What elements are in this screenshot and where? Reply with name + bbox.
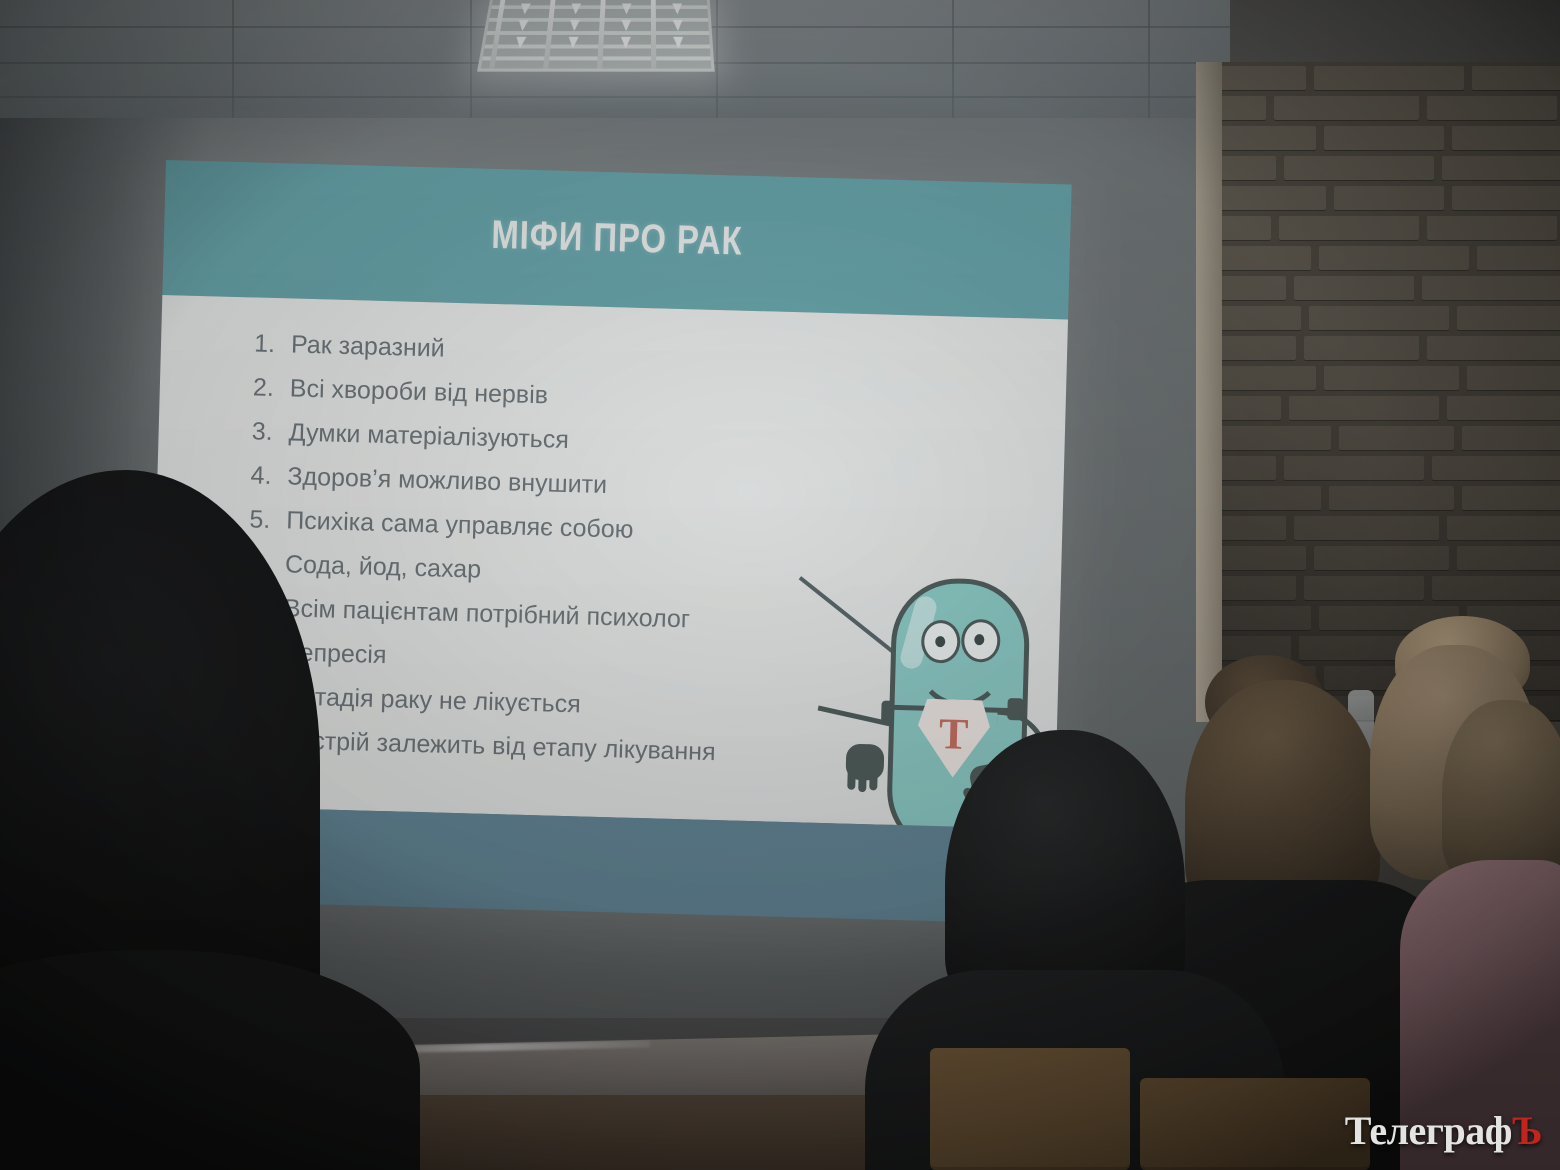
brick-column <box>1196 62 1560 722</box>
list-item-number: 4. <box>213 452 288 498</box>
chair-back <box>1140 1078 1370 1170</box>
list-item-label: Всі хвороби від нервів <box>289 366 548 417</box>
brick-column-edge <box>1196 62 1222 722</box>
ceiling-light-icon <box>477 0 715 72</box>
mascot-right-nub <box>1007 698 1024 720</box>
list-item-number: 3. <box>214 408 289 454</box>
watermark: ТелеграфЪ <box>1345 1107 1542 1154</box>
list-item-label: Рак заразний <box>290 322 445 370</box>
list-item-number: 2. <box>215 364 290 410</box>
watermark-accent: Ъ <box>1512 1108 1542 1153</box>
list-item-label: Сода, йод, сахар <box>285 542 482 591</box>
chair-back <box>930 1048 1130 1170</box>
photo-scene: МІФИ ПРО РАК 1. Рак заразний 2. Всі хвор… <box>0 0 1560 1170</box>
mascot-shield-letter: T <box>917 708 990 761</box>
list-item-number: 1. <box>216 320 291 366</box>
list-item-label: Думки матеріалізуються <box>288 410 569 462</box>
watermark-text: Телеграф <box>1345 1108 1512 1153</box>
